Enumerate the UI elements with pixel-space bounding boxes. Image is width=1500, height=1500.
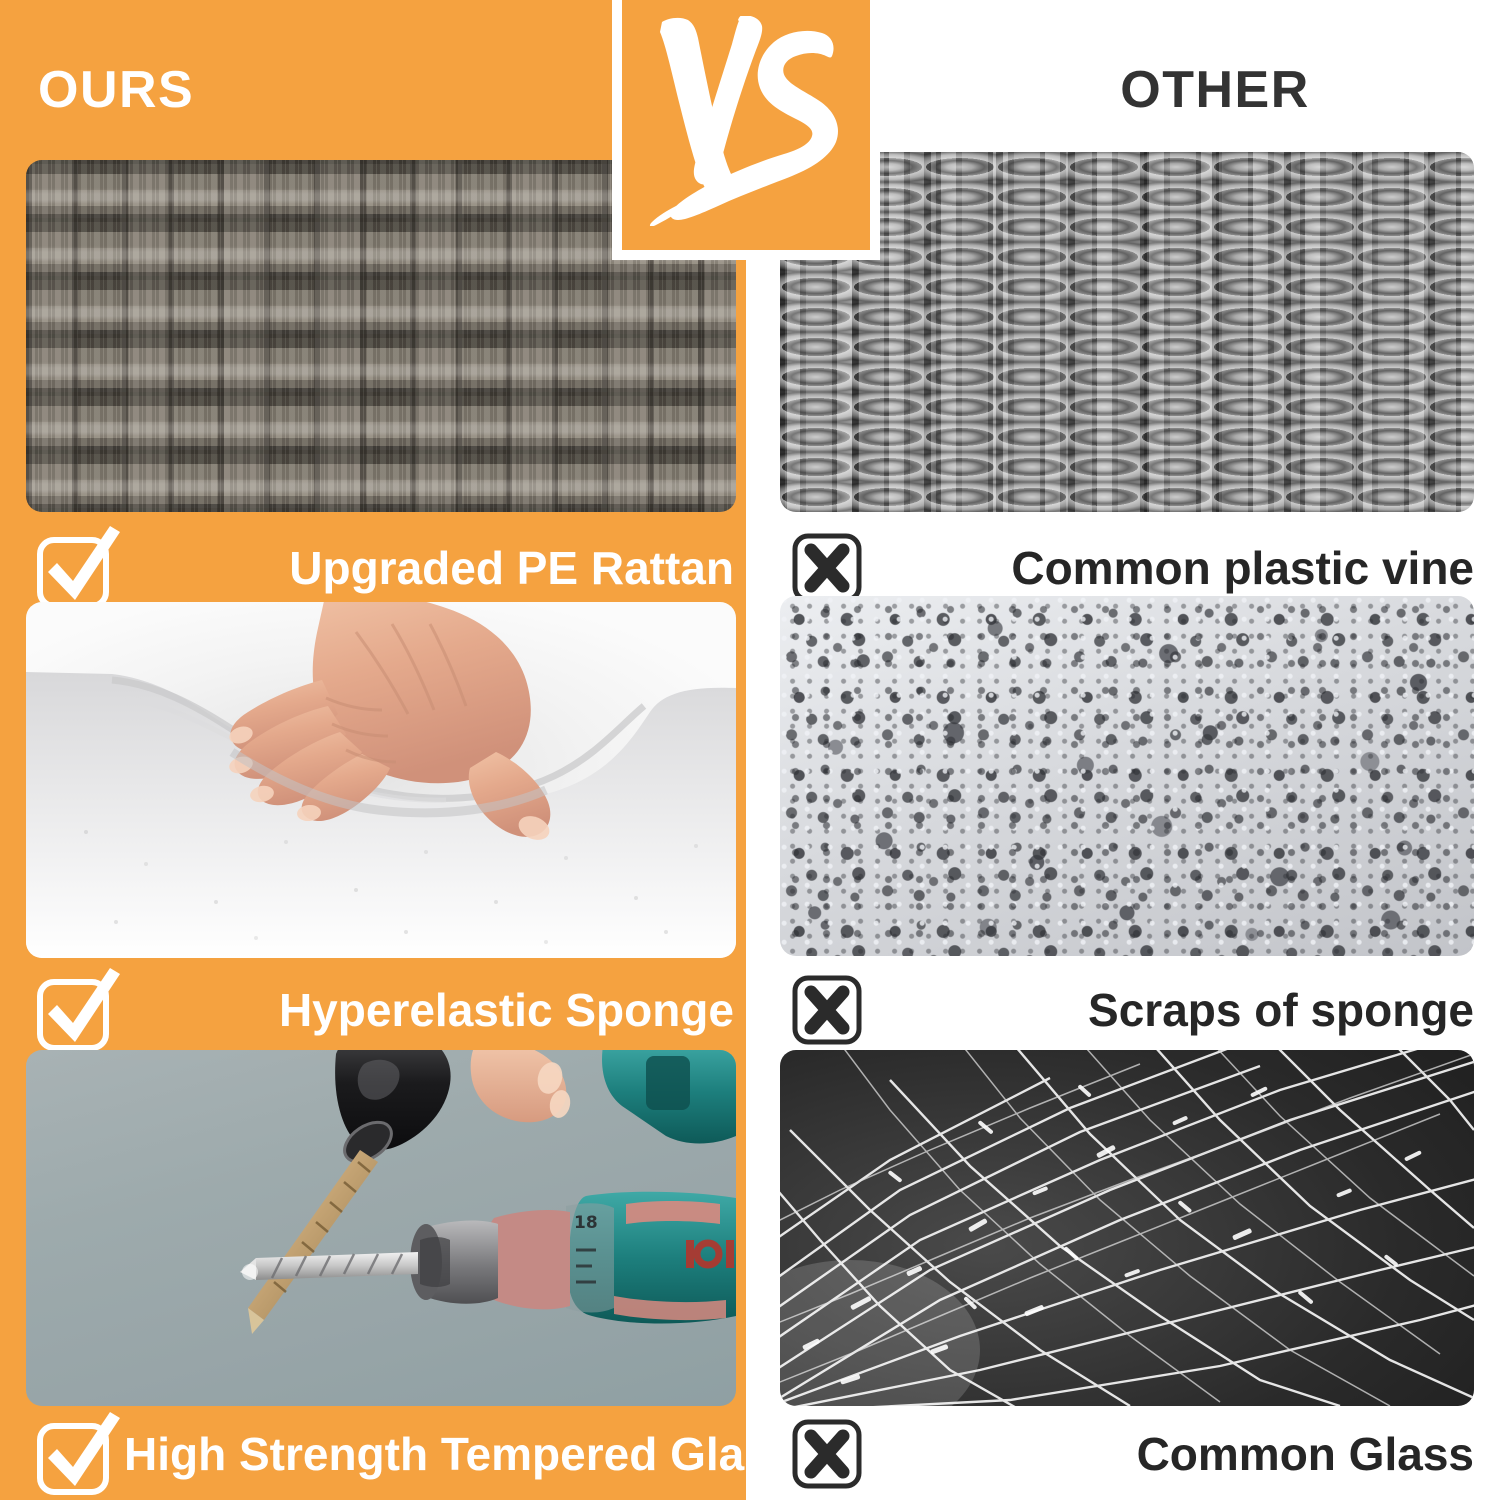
other-image-sponge-scraps: [780, 596, 1474, 956]
ours-label-1: Upgraded PE Rattan: [124, 545, 734, 591]
other-image-plastic-vine: [780, 152, 1474, 512]
ours-image-foam: [26, 602, 736, 958]
ours-label-2: Hyperelastic Sponge: [124, 987, 734, 1033]
other-header-title: OTHER: [980, 64, 1450, 116]
other-label-row-2: Scraps of sponge: [790, 962, 1474, 1058]
svg-text:18: 18: [574, 1213, 598, 1233]
other-label-2: Scraps of sponge: [864, 987, 1474, 1033]
ours-header-title: OURS: [38, 64, 194, 116]
checkmark-icon: [34, 962, 124, 1058]
other-image-shattered-glass: [780, 1050, 1474, 1406]
ours-image-drill-test: 18: [26, 1050, 736, 1406]
checkmark-icon: [34, 1406, 124, 1500]
other-label-row-3: Common Glass: [790, 1406, 1474, 1500]
ours-label-row-2: Hyperelastic Sponge: [34, 962, 734, 1058]
vs-brush-icon: [646, 16, 846, 226]
ours-label-3: High Strength Tempered Glass: [124, 1431, 795, 1477]
cross-icon: [790, 1415, 864, 1493]
vs-badge: [612, 0, 880, 260]
ours-label-row-3: High Strength Tempered Glass: [34, 1406, 734, 1500]
other-label-3: Common Glass: [864, 1431, 1474, 1477]
other-label-1: Common plastic vine: [864, 545, 1474, 591]
comparison-infographic: OURS OTHER: [0, 0, 1500, 1500]
cross-icon: [790, 971, 864, 1049]
